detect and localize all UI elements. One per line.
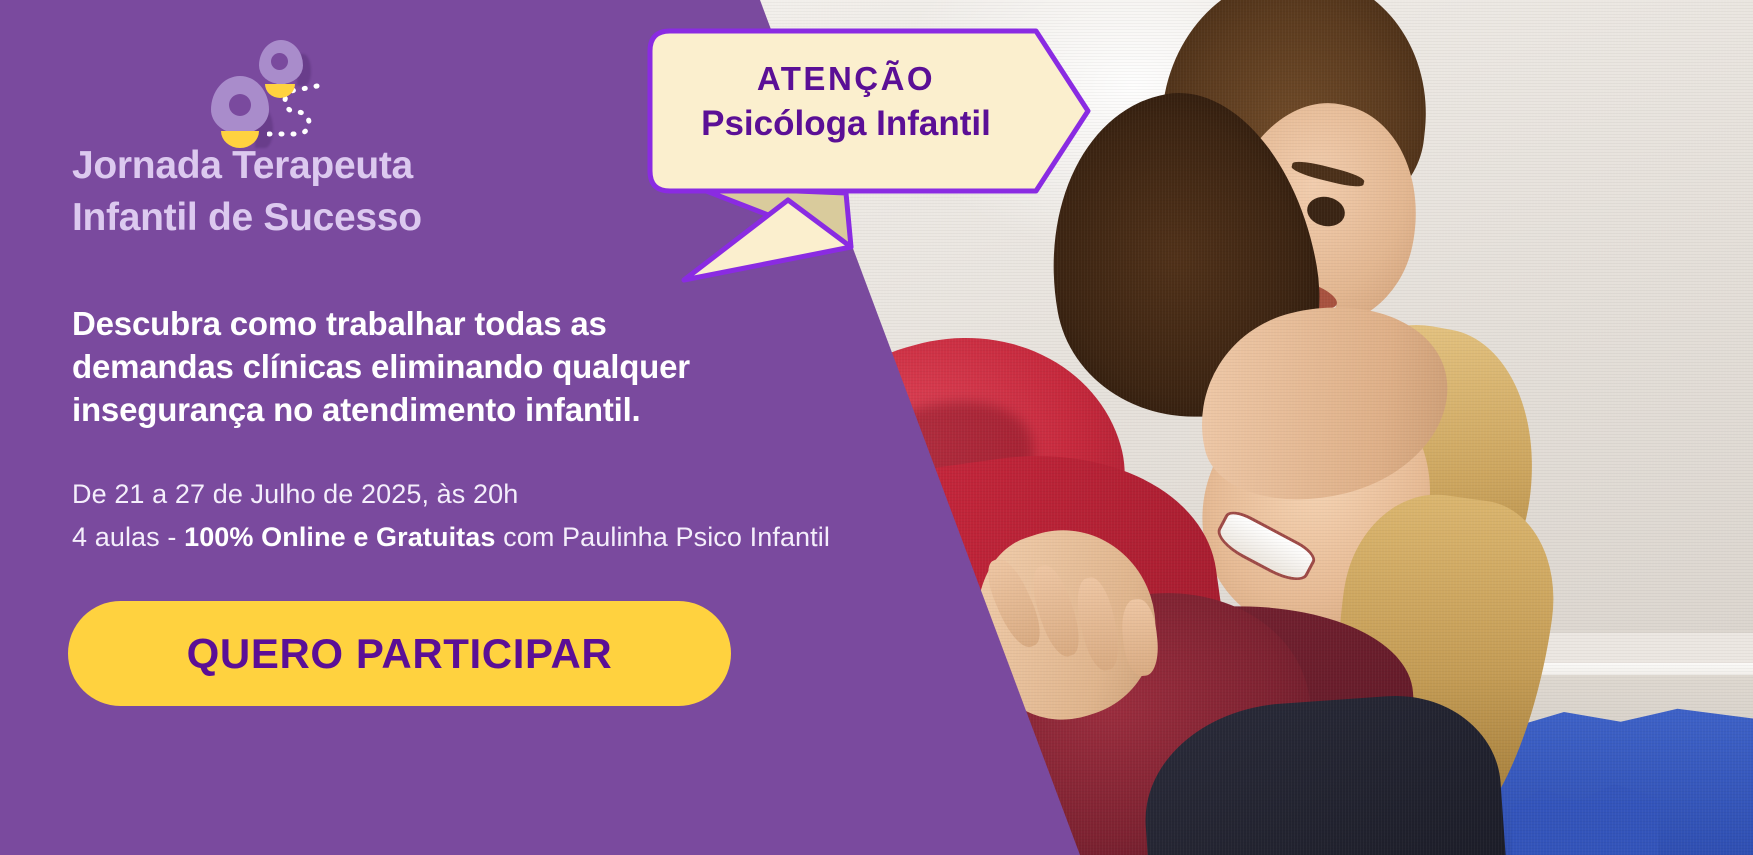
schedule-dates: De 21 a 27 de Julho de 2025, às 20h: [72, 473, 972, 516]
quero-participar-button[interactable]: QUERO PARTICIPAR: [68, 601, 731, 706]
description-line-1: Descubra como trabalhar todas as: [72, 305, 607, 342]
page-title: Jornada Terapeuta Infantil de Sucesso: [72, 140, 712, 244]
schedule-details: 4 aulas - 100% Online e Gratuitas com Pa…: [72, 516, 972, 559]
map-pins-journey-icon: [205, 48, 325, 143]
title-line-2: Infantil de Sucesso: [72, 196, 422, 239]
description-line-2: demandas clínicas eliminando qualquer: [72, 348, 690, 385]
schedule-classes: 4 aulas: [72, 522, 167, 552]
description-line-3: insegurança no atendimento infantil.: [72, 391, 641, 428]
attention-speech-bubble: ATENÇÃO Psicóloga Infantil: [636, 25, 1096, 290]
schedule-dash: -: [167, 522, 184, 552]
promotional-banner: Jornada Terapeuta Infantil de Sucesso De…: [0, 0, 1753, 855]
schedule-presenter: com Paulinha Psico Infantil: [496, 522, 830, 552]
schedule-highlight: 100% Online e Gratuitas: [184, 522, 495, 552]
description-text: Descubra como trabalhar todas as demanda…: [72, 303, 812, 432]
speech-bubble-shape: [636, 25, 1096, 290]
title-line-1: Jornada Terapeuta: [72, 144, 413, 187]
schedule-info: De 21 a 27 de Julho de 2025, às 20h 4 au…: [72, 473, 972, 558]
